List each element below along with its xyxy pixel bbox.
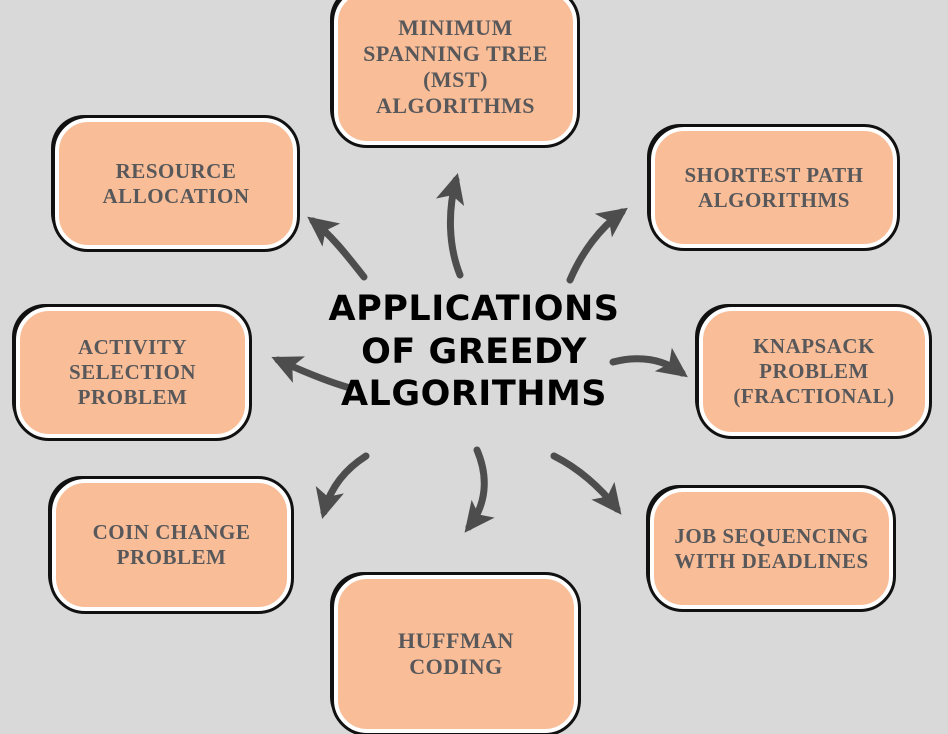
node-knapsack-label: KNAPSACK PROBLEM (FRACTIONAL) xyxy=(727,334,900,408)
node-huffman-coding-label: HUFFMAN CODING xyxy=(392,628,520,680)
node-resource-allocation-label: RESOURCE ALLOCATION xyxy=(97,159,256,209)
node-activity-selection[interactable]: ACTIVITY SELECTION PROBLEM xyxy=(15,306,250,439)
node-job-sequencing-label: JOB SEQUENCING WITH DEADLINES xyxy=(668,524,874,574)
arrow-to-job xyxy=(554,456,617,509)
node-resource-allocation[interactable]: RESOURCE ALLOCATION xyxy=(54,117,298,250)
node-coin-change[interactable]: COIN CHANGE PROBLEM xyxy=(51,478,292,612)
node-activity-selection-label: ACTIVITY SELECTION PROBLEM xyxy=(63,335,202,409)
node-knapsack[interactable]: KNAPSACK PROBLEM (FRACTIONAL) xyxy=(698,306,930,437)
diagram-title: APPLICATIONS OF GREEDY ALGORITHMS xyxy=(274,288,674,416)
arrow-to-resource xyxy=(313,221,364,277)
arrow-to-mst xyxy=(450,180,460,275)
node-shortest-path[interactable]: SHORTEST PATH ALGORITHMS xyxy=(650,126,898,249)
node-mst[interactable]: MINIMUM SPANNING TREE (MST) ALGORITHMS xyxy=(333,0,578,146)
arrow-to-coin xyxy=(324,456,366,512)
diagram-canvas: MINIMUM SPANNING TREE (MST) ALGORITHMS S… xyxy=(0,0,948,720)
arrow-to-huffman xyxy=(469,450,484,527)
node-coin-change-label: COIN CHANGE PROBLEM xyxy=(87,520,257,570)
node-mst-label: MINIMUM SPANNING TREE (MST) ALGORITHMS xyxy=(357,15,554,119)
arrow-to-shortest xyxy=(570,212,622,280)
node-huffman-coding[interactable]: HUFFMAN CODING xyxy=(333,574,579,734)
node-job-sequencing[interactable]: JOB SEQUENCING WITH DEADLINES xyxy=(649,487,894,610)
node-shortest-path-label: SHORTEST PATH ALGORITHMS xyxy=(678,163,869,213)
